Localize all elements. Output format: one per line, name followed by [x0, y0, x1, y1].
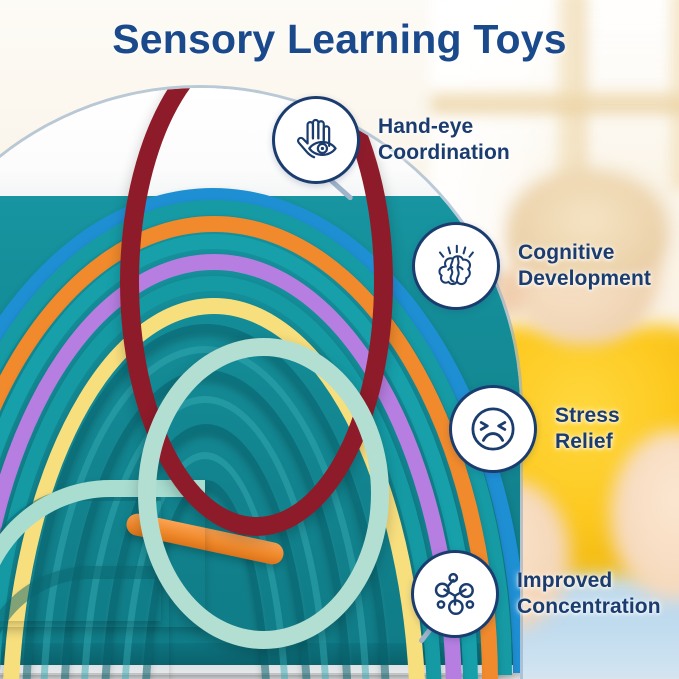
infographic-canvas: Sensory Learning Toys Hand-eye Coordinat…	[0, 0, 679, 679]
feature-cognitive-development[interactable]: Cognitive Development	[412, 222, 651, 310]
feature-hand-eye-coordination[interactable]: Hand-eye Coordination	[272, 96, 510, 184]
feature-label-stress-relief: Stress Relief	[555, 403, 620, 454]
feature-stress-relief[interactable]: Stress Relief	[449, 385, 620, 473]
molecule-icon	[411, 550, 499, 638]
feature-label-hand-eye-coordination: Hand-eye Coordination	[378, 114, 510, 165]
hand-eye-icon	[272, 96, 360, 184]
brain-icon	[412, 222, 500, 310]
feature-label-improved-concentration: Improved Concentration	[517, 568, 661, 619]
page-title: Sensory Learning Toys	[0, 16, 679, 63]
feature-improved-concentration[interactable]: Improved Concentration	[411, 550, 661, 638]
feature-label-cognitive-development: Cognitive Development	[518, 240, 651, 291]
loop-mint-green	[138, 338, 389, 649]
stressed-face-icon	[449, 385, 537, 473]
